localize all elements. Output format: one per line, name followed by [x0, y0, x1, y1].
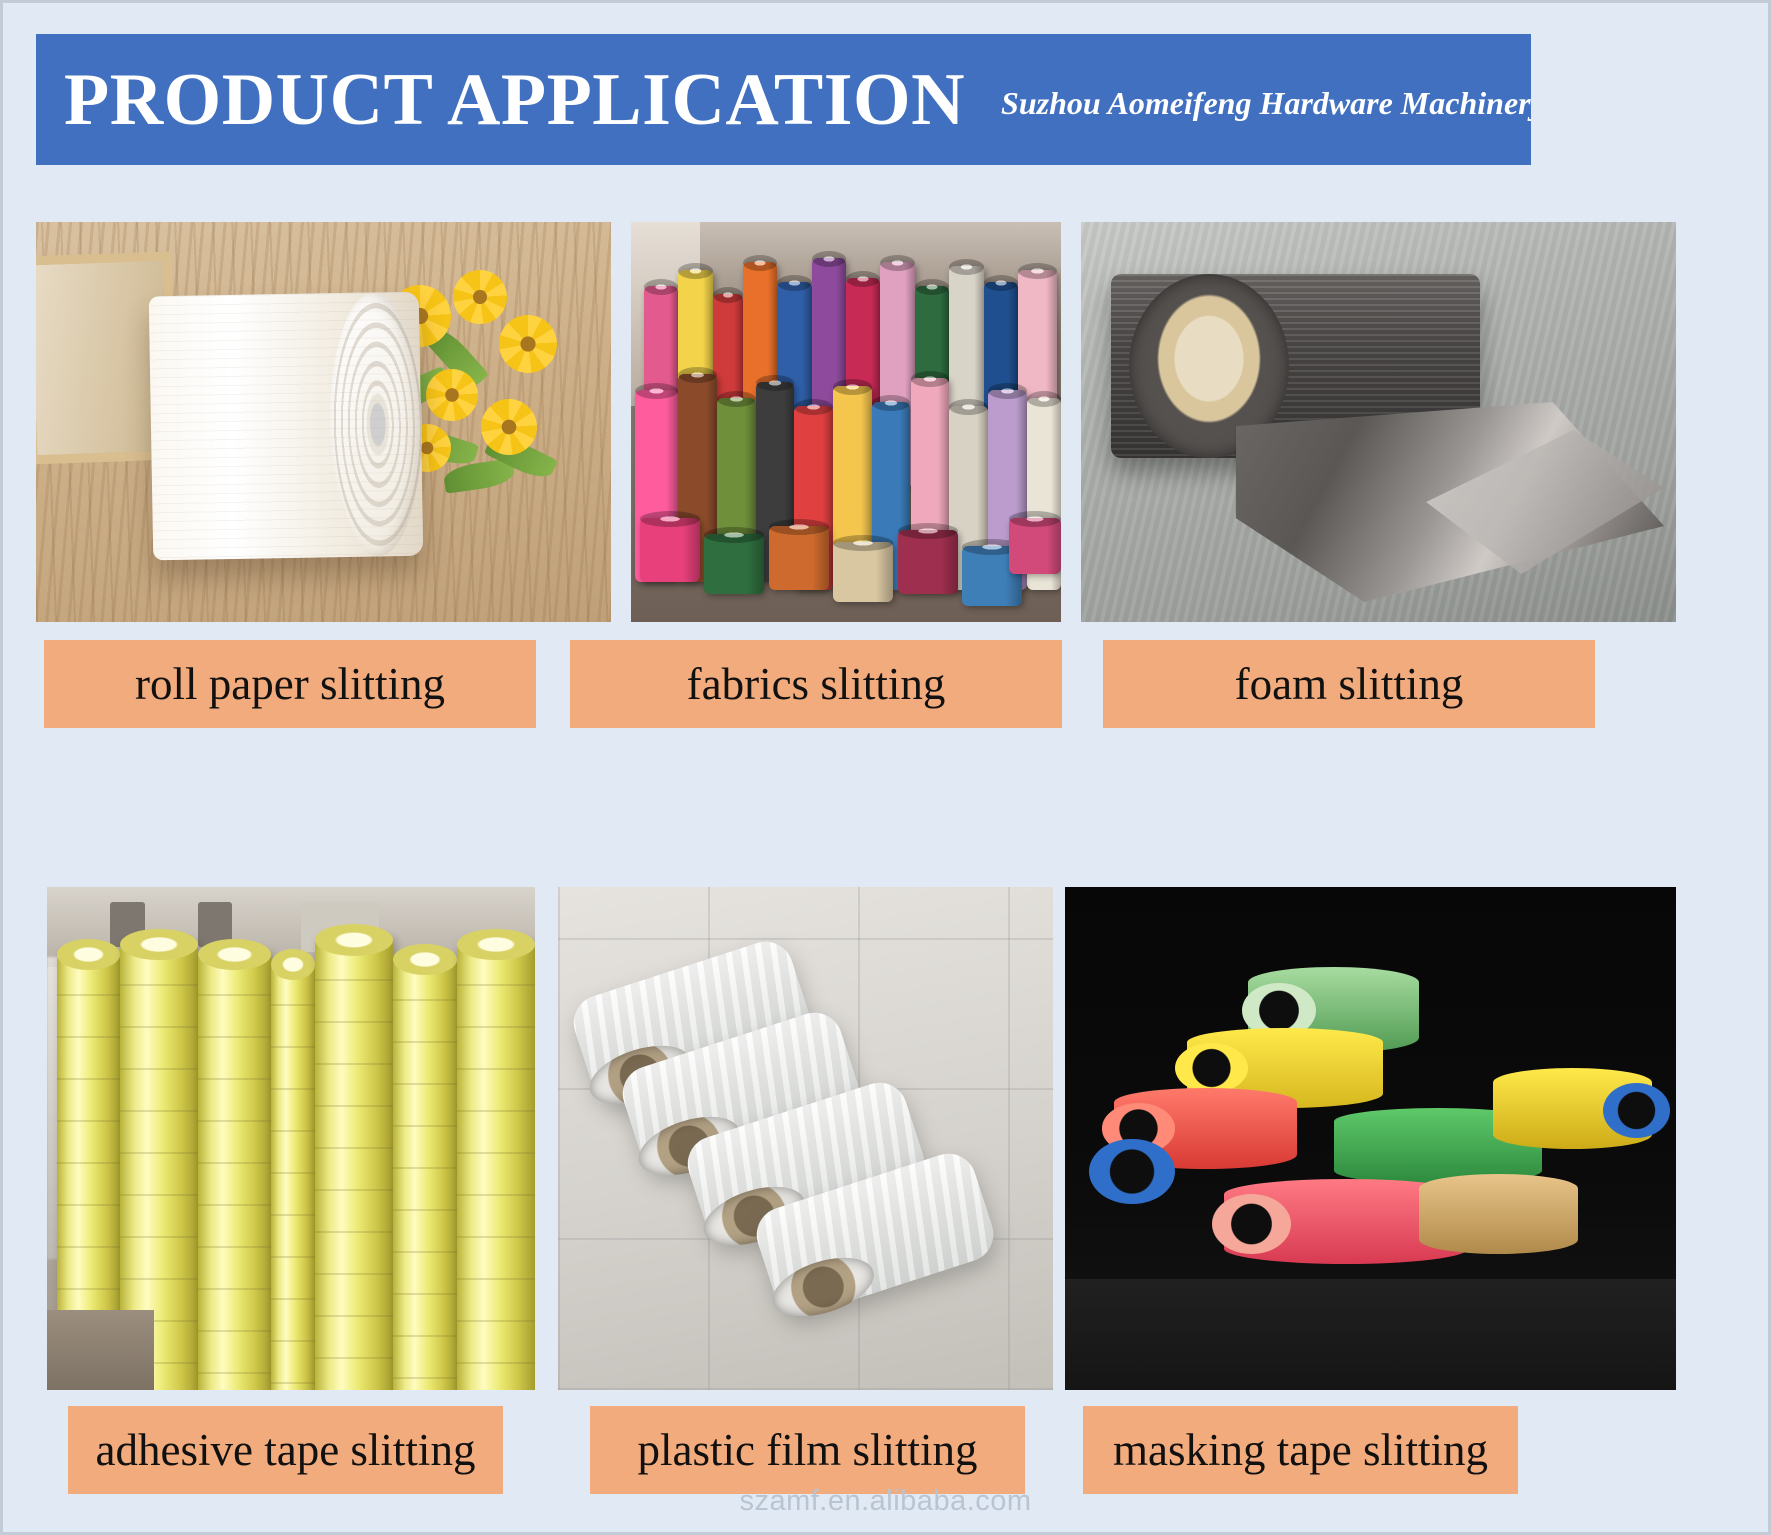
caption-roll-paper-slitting: roll paper slitting — [44, 640, 536, 728]
site-watermark: szamf.en.alibaba.com — [3, 1485, 1768, 1518]
photo-masking-tape-slitting — [1065, 887, 1676, 1390]
application-card-adhesive-tape: adhesive tape slitting — [47, 887, 535, 1477]
photo-plastic-film-slitting — [558, 887, 1053, 1390]
photo-adhesive-tape-slitting — [47, 887, 535, 1390]
caption-text: fabrics slitting — [687, 662, 946, 707]
application-card-masking-tape: masking tape slitting — [1065, 887, 1676, 1477]
caption-adhesive-tape-slitting: adhesive tape slitting — [68, 1406, 503, 1494]
application-grid: roll paper slitting — [3, 3, 1768, 1532]
caption-text: adhesive tape slitting — [96, 1428, 476, 1473]
product-application-poster: PRODUCT APPLICATION Suzhou Aomeifeng Har… — [0, 0, 1771, 1535]
caption-foam-slitting: foam slitting — [1103, 640, 1595, 728]
photo-foam-slitting — [1081, 222, 1676, 622]
application-card-roll-paper: roll paper slitting — [36, 222, 611, 815]
caption-masking-tape-slitting: masking tape slitting — [1083, 1406, 1518, 1494]
application-card-plastic-film: plastic film slitting — [558, 887, 1053, 1477]
caption-text: foam slitting — [1235, 662, 1464, 707]
caption-text: masking tape slitting — [1113, 1428, 1488, 1473]
caption-fabrics-slitting: fabrics slitting — [570, 640, 1062, 728]
photo-fabrics-slitting — [631, 222, 1061, 622]
caption-text: roll paper slitting — [135, 662, 445, 707]
application-card-fabrics: fabrics slitting — [631, 222, 1061, 815]
application-card-foam: foam slitting — [1081, 222, 1676, 815]
caption-text: plastic film slitting — [638, 1428, 978, 1473]
caption-plastic-film-slitting: plastic film slitting — [590, 1406, 1025, 1494]
photo-roll-paper-slitting — [36, 222, 611, 622]
